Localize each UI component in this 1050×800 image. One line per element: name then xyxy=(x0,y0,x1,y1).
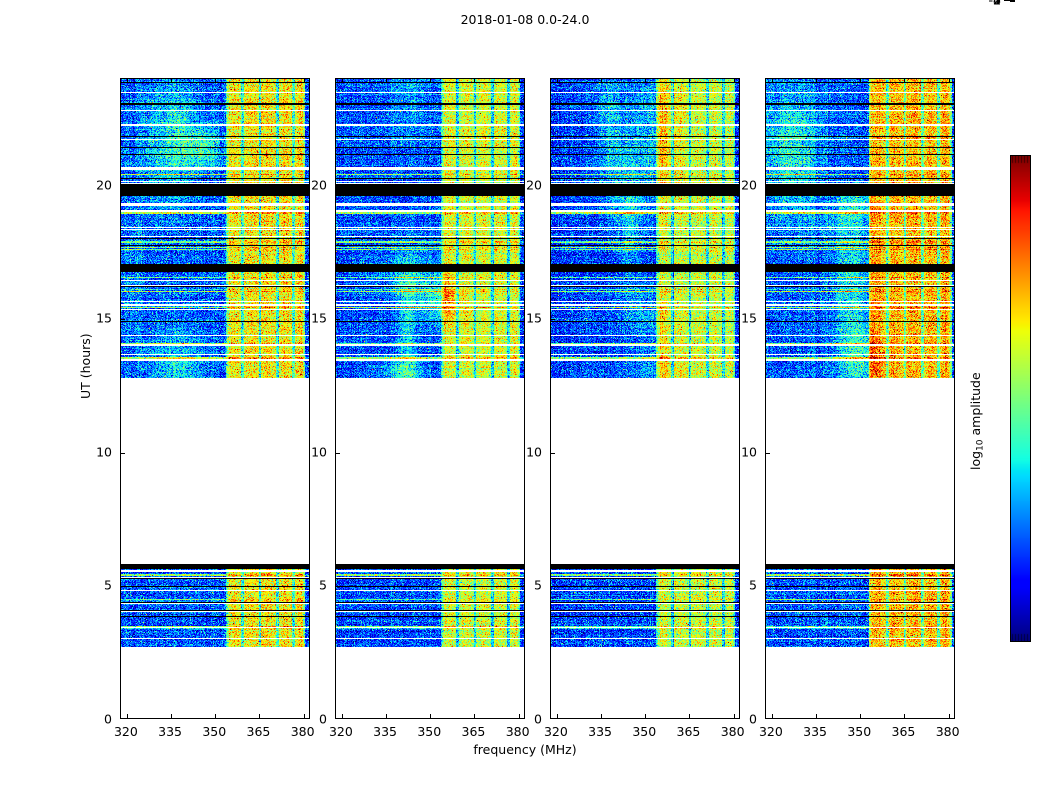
colorbar-gradient xyxy=(1011,156,1030,641)
y-axis-label: UT (hours) xyxy=(78,333,93,399)
x-tick-mark-inner xyxy=(904,714,905,718)
x-axis-label: frequency (MHz) xyxy=(0,742,1050,757)
x-tick-label: 350 xyxy=(632,724,656,739)
y-tick-mark-inner xyxy=(551,586,555,587)
y-tick-label: 15 xyxy=(80,311,112,326)
y-tick-mark-inner xyxy=(121,586,125,587)
y-tick-mark-inner xyxy=(121,319,125,320)
x-tick-mark xyxy=(772,718,773,719)
y-tick-label: 10 xyxy=(295,444,327,459)
x-tick-mark xyxy=(557,718,558,719)
y-tick-mark-inner xyxy=(336,319,340,320)
x-tick-mark-top xyxy=(342,79,343,83)
y-tick-label: 10 xyxy=(725,444,757,459)
y-tick-mark-inner xyxy=(551,186,555,187)
colorbar-title-subscript: 10 xyxy=(975,439,985,450)
y-tick-label: 15 xyxy=(510,311,542,326)
x-tick-label: 335 xyxy=(588,724,612,739)
x-tick-mark xyxy=(474,718,475,719)
y-tick-label: 20 xyxy=(80,177,112,192)
x-tick-mark-inner xyxy=(772,714,773,718)
x-tick-mark-inner xyxy=(689,714,690,718)
x-tick-mark-top xyxy=(259,79,260,83)
x-tick-mark-top xyxy=(386,79,387,83)
x-tick-label: 365 xyxy=(892,724,916,739)
x-tick-mark-top xyxy=(557,79,558,83)
x-tick-label: 320 xyxy=(329,724,353,739)
y-tick-label: 10 xyxy=(80,444,112,459)
colorbar-title-rest: amplitude xyxy=(968,372,983,439)
y-tick-mark-inner xyxy=(551,453,555,454)
x-tick-mark xyxy=(430,718,431,719)
spectrum-panel-yx[interactable]: YX, V5*V14=EA08*EA02 xyxy=(765,78,955,719)
y-tick-label: 0 xyxy=(80,712,112,727)
spectrum-panel-xy[interactable]: XY, V5*V14=EA08*EA02 xyxy=(550,78,740,719)
dynamic-spectrum-image-yx xyxy=(766,79,954,718)
x-tick-mark-top xyxy=(860,79,861,83)
x-tick-label: 365 xyxy=(677,724,701,739)
x-tick-mark xyxy=(860,718,861,719)
y-tick-label: 15 xyxy=(295,311,327,326)
colorbar-tick-mark-inner xyxy=(1010,0,1015,2)
colorbar-tick-label: 1 xyxy=(979,0,1001,8)
x-tick-label: 335 xyxy=(373,724,397,739)
x-tick-mark-top xyxy=(734,79,735,83)
x-tick-mark-top xyxy=(816,79,817,83)
x-tick-mark xyxy=(904,718,905,719)
x-tick-label: 350 xyxy=(202,724,226,739)
x-tick-mark-top xyxy=(601,79,602,83)
x-tick-mark xyxy=(689,718,690,719)
x-tick-mark-inner xyxy=(860,714,861,718)
x-tick-mark-top xyxy=(474,79,475,83)
x-tick-mark xyxy=(342,718,343,719)
dynamic-spectrum-image-yy xyxy=(336,79,524,718)
y-tick-mark-right xyxy=(954,186,955,187)
colorbar-title: log10 amplitude xyxy=(968,372,985,470)
dynamic-spectrum-image-xy xyxy=(551,79,739,718)
y-tick-mark-inner xyxy=(121,186,125,187)
x-tick-label: 320 xyxy=(544,724,568,739)
x-tick-mark xyxy=(645,718,646,719)
y-tick-label: 5 xyxy=(510,578,542,593)
figure-canvas: 2018-01-08 0.0-24.0 UT (hours) XX, V5*V1… xyxy=(0,0,1050,800)
x-tick-label: 350 xyxy=(417,724,441,739)
x-tick-mark-top xyxy=(689,79,690,83)
x-tick-mark-inner xyxy=(342,714,343,718)
y-tick-label: 20 xyxy=(510,177,542,192)
x-tick-mark-inner xyxy=(949,714,950,718)
y-tick-mark-right xyxy=(954,586,955,587)
x-tick-mark-top xyxy=(215,79,216,83)
y-tick-mark-inner xyxy=(336,453,340,454)
x-tick-mark-inner xyxy=(259,714,260,718)
x-tick-mark-inner xyxy=(215,714,216,718)
y-tick-mark-inner xyxy=(766,186,770,187)
y-tick-mark-inner xyxy=(551,319,555,320)
figure-suptitle: 2018-01-08 0.0-24.0 xyxy=(0,12,1050,27)
x-tick-mark-top xyxy=(304,79,305,83)
x-tick-mark xyxy=(386,718,387,719)
y-tick-mark-inner xyxy=(766,586,770,587)
x-tick-mark-top xyxy=(772,79,773,83)
y-tick-label: 20 xyxy=(295,177,327,192)
x-tick-mark-top xyxy=(171,79,172,83)
x-tick-mark-top xyxy=(519,79,520,83)
y-tick-mark-right xyxy=(954,319,955,320)
y-tick-mark-inner xyxy=(766,453,770,454)
x-tick-mark-top xyxy=(430,79,431,83)
x-tick-mark-inner xyxy=(171,714,172,718)
x-tick-mark xyxy=(601,718,602,719)
x-tick-mark-inner xyxy=(430,714,431,718)
y-tick-label: 5 xyxy=(80,578,112,593)
y-tick-mark-inner xyxy=(336,186,340,187)
y-tick-mark-right xyxy=(954,453,955,454)
y-tick-label: 5 xyxy=(295,578,327,593)
x-tick-mark-inner xyxy=(474,714,475,718)
y-tick-mark-inner xyxy=(121,453,125,454)
x-tick-label: 335 xyxy=(803,724,827,739)
x-tick-mark xyxy=(816,718,817,719)
y-tick-label: 10 xyxy=(510,444,542,459)
x-tick-mark-top xyxy=(645,79,646,83)
x-tick-mark xyxy=(215,718,216,719)
x-tick-mark-inner xyxy=(557,714,558,718)
y-tick-mark-inner xyxy=(336,586,340,587)
y-tick-label: 5 xyxy=(725,578,757,593)
x-tick-label: 365 xyxy=(247,724,271,739)
x-tick-mark xyxy=(127,718,128,719)
colorbar-title-base: log xyxy=(968,451,983,470)
x-tick-label: 350 xyxy=(847,724,871,739)
x-tick-mark-inner xyxy=(645,714,646,718)
spectrum-panel-yy[interactable]: YY, V5*V14=EA08*EA02 xyxy=(335,78,525,719)
x-tick-label: 380 xyxy=(936,724,960,739)
y-tick-label: 0 xyxy=(295,712,327,727)
y-tick-mark-inner xyxy=(766,319,770,320)
x-tick-mark xyxy=(171,718,172,719)
x-tick-label: 320 xyxy=(759,724,783,739)
x-tick-mark xyxy=(259,718,260,719)
y-tick-label: 0 xyxy=(725,712,757,727)
x-tick-label: 335 xyxy=(158,724,182,739)
x-tick-mark-top xyxy=(127,79,128,83)
y-tick-label: 15 xyxy=(725,311,757,326)
x-tick-label: 365 xyxy=(462,724,486,739)
spectrum-panel-xx[interactable]: XX, V5*V14=EA08*EA02 xyxy=(120,78,310,719)
colorbar[interactable] xyxy=(1010,155,1031,642)
x-tick-label: 320 xyxy=(114,724,138,739)
dynamic-spectrum-image-xx xyxy=(121,79,309,718)
x-tick-mark-inner xyxy=(386,714,387,718)
x-tick-mark-inner xyxy=(816,714,817,718)
x-tick-mark-inner xyxy=(127,714,128,718)
x-tick-mark xyxy=(949,718,950,719)
y-tick-label: 0 xyxy=(510,712,542,727)
x-tick-mark-inner xyxy=(601,714,602,718)
x-tick-mark-top xyxy=(904,79,905,83)
x-tick-mark-top xyxy=(949,79,950,83)
y-tick-label: 20 xyxy=(725,177,757,192)
